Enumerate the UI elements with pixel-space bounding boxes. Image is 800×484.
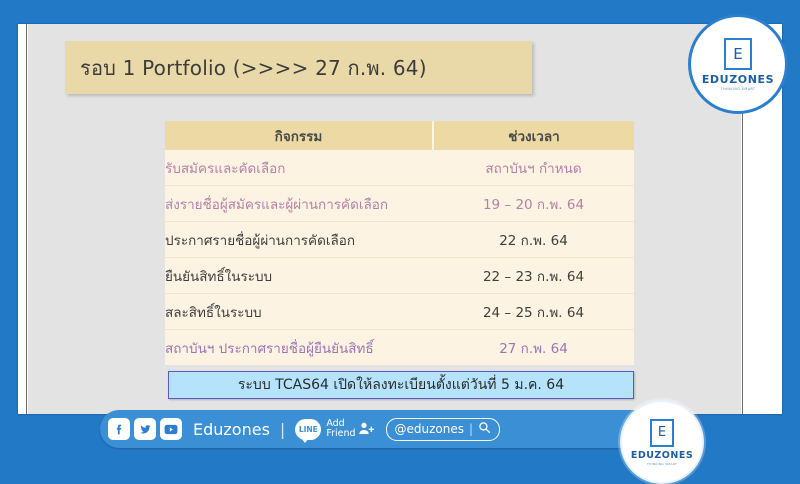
add-person-icon[interactable] — [358, 420, 374, 439]
handle-separator: | — [469, 422, 473, 436]
add-friend-line2: Friend — [326, 428, 355, 439]
cell-period: 19 – 20 ก.พ. 64 — [433, 186, 634, 222]
cell-period: 22 ก.พ. 64 — [433, 222, 634, 258]
cell-period: 27 ก.พ. 64 — [433, 330, 634, 366]
eduzones-logo-badge-bottom: E EDUZONES THINKING SMART — [620, 400, 704, 484]
column-header-activity: กิจกรรม — [165, 121, 433, 150]
eduzones-badge-name: EDUZONES — [702, 73, 774, 86]
cell-activity: ประกาศรายชื่อผู้ผ่านการคัดเลือก — [165, 222, 433, 258]
slide-title: รอบ 1 Portfolio (>>>> 27 ก.พ. 64) — [65, 52, 427, 84]
line-icon[interactable]: LINE — [295, 419, 321, 440]
youtube-icon[interactable] — [160, 418, 182, 440]
search-icon[interactable] — [478, 421, 491, 437]
table-row: สละสิทธิ์ในระบบ24 – 25 ก.พ. 64 — [165, 294, 634, 330]
cell-period: 24 – 25 ก.พ. 64 — [433, 294, 634, 330]
slide-title-bar: รอบ 1 Portfolio (>>>> 27 ก.พ. 64) — [65, 41, 532, 94]
cell-period: 22 – 23 ก.พ. 64 — [433, 258, 634, 294]
registration-note-text: ระบบ TCAS64 เปิดให้ลงทะเบียนตั้งแต่วันที… — [238, 374, 564, 396]
schedule-table-body: รับสมัครและคัดเลือกสถาบันฯ กำหนดส่งรายชื… — [165, 150, 634, 365]
outer-blue-frame: รอบ 1 Portfolio (>>>> 27 ก.พ. 64) กิจกรร… — [0, 0, 800, 451]
table-row: สถาบันฯ ประกาศรายชื่อผู้ยืนยันสิทธิ์27 ก… — [165, 330, 634, 366]
twitter-icon[interactable] — [134, 418, 156, 440]
eduzones-badge-subtitle-bottom: THINKING SMART — [647, 462, 677, 466]
cell-activity: ส่งรายชื่อผู้สมัครและผู้ผ่านการคัดเลือก — [165, 186, 433, 222]
facebook-icon[interactable] — [108, 418, 130, 440]
eduzones-badge-subtitle: THINKING SMART — [721, 87, 756, 91]
schedule-table: กิจกรรม ช่วงเวลา รับสมัครและคัดเลือกสถาบ… — [165, 121, 634, 365]
footer-brand-name: Eduzones — [193, 420, 270, 439]
cell-activity: รับสมัครและคัดเลือก — [165, 150, 433, 186]
cell-period: สถาบันฯ กำหนด — [433, 150, 634, 186]
eduzones-letter-mark: E — [724, 38, 752, 70]
table-header-row: กิจกรรม ช่วงเวลา — [165, 121, 634, 150]
cell-activity: ยืนยันสิทธิ์ในระบบ — [165, 258, 433, 294]
cell-activity: สถาบันฯ ประกาศรายชื่อผู้ยืนยันสิทธิ์ — [165, 330, 433, 366]
eduzones-logo-badge-top: E EDUZONES THINKING SMART — [688, 14, 788, 114]
footer-divider: | — [280, 420, 285, 439]
cell-activity: สละสิทธิ์ในระบบ — [165, 294, 433, 330]
table-row: รับสมัครและคัดเลือกสถาบันฯ กำหนด — [165, 150, 634, 186]
handle-text: @eduzones — [395, 422, 465, 436]
table-row: ประกาศรายชื่อผู้ผ่านการคัดเลือก22 ก.พ. 6… — [165, 222, 634, 258]
table-row: ยืนยันสิทธิ์ในระบบ22 – 23 ก.พ. 64 — [165, 258, 634, 294]
column-header-period: ช่วงเวลา — [433, 121, 634, 150]
page-rule-left — [26, 24, 27, 414]
handle-pill[interactable]: @eduzones | — [386, 418, 501, 441]
eduzones-social-footer-bar: Eduzones | LINE Add Friend @eduzones | — [100, 410, 688, 448]
eduzones-badge-name-bottom: EDUZONES — [631, 450, 693, 461]
registration-note-bar: ระบบ TCAS64 เปิดให้ลงทะเบียนตั้งแต่วันที… — [168, 371, 634, 399]
table-row: ส่งรายชื่อผู้สมัครและผู้ผ่านการคัดเลือก1… — [165, 186, 634, 222]
eduzones-letter-mark-bottom: E — [650, 419, 674, 447]
line-add-friend-label[interactable]: Add Friend — [326, 419, 355, 439]
